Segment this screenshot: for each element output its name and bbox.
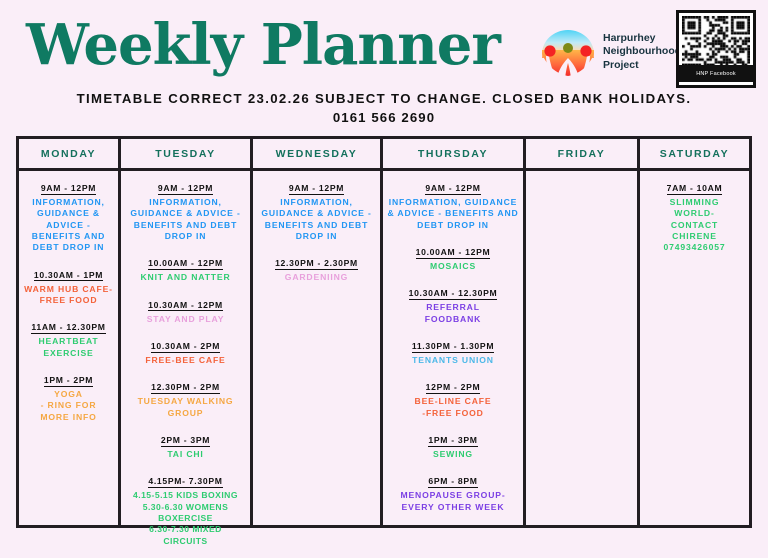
- org-line-2: Neighbourhood: [603, 45, 681, 58]
- event-name: KNIT AND NATTER: [122, 272, 249, 283]
- event-item[interactable]: 10.30AM - 12PMSTAY AND PLAY: [122, 295, 249, 325]
- event-name: MENOPAUSE GROUP- EVERY OTHER WEEK: [384, 490, 522, 513]
- day-column-wednesday: WEDNESDAY9AM - 12PMINFORMATION, GUIDANCE…: [253, 139, 383, 525]
- event-name: WARM HUB CAFE- FREE FOOD: [20, 284, 117, 307]
- event-name: HEARTBEAT EXERCISE: [20, 336, 117, 359]
- event-item[interactable]: 12.30PM - 2PMTUESDAY WALKING GROUP: [122, 377, 249, 419]
- event-item[interactable]: 10.30AM - 2PMFREE-BEE CAFE: [122, 336, 249, 366]
- event-time: 10.30AM - 2PM: [151, 341, 220, 353]
- event-time: 9AM - 12PM: [41, 183, 96, 195]
- event-item[interactable]: 10.00AM - 12PMMOSAICS: [384, 242, 522, 272]
- event-time: 11.30PM - 1.30PM: [412, 341, 494, 353]
- event-name: SLIMMING WORLD- CONTACT CHIRENE 07493426…: [641, 197, 748, 254]
- event-time: 9AM - 12PM: [289, 183, 344, 195]
- event-time: 10.30AM - 12.30PM: [409, 288, 498, 300]
- day-events-tuesday: 9AM - 12PMINFORMATION, GUIDANCE & ADVICE…: [121, 171, 250, 558]
- event-time: 6PM - 8PM: [428, 476, 477, 488]
- event-name: MOSAICS: [384, 261, 522, 272]
- day-column-thursday: THURSDAY9AM - 12PMINFORMATION, GUIDANCE …: [383, 139, 526, 525]
- event-time: 10.30AM - 12PM: [148, 300, 223, 312]
- day-column-friday: FRIDAY: [526, 139, 640, 525]
- event-name: BEE-LINE CAFE -FREE FOOD: [384, 396, 522, 419]
- org-line-1: Harpurhey: [603, 32, 681, 45]
- event-item[interactable]: 9AM - 12PMINFORMATION, GUIDANCE & ADVICE…: [122, 178, 249, 242]
- day-column-monday: MONDAY9AM - 12PMINFORMATION, GUIDANCE & …: [19, 139, 121, 525]
- day-events-thursday: 9AM - 12PMINFORMATION, GUIDANCE & ADVICE…: [383, 171, 523, 525]
- event-name: GARDENIING: [254, 272, 379, 283]
- page-header: Weekly Planner: [0, 0, 768, 135]
- weekly-planner-table: MONDAY9AM - 12PMINFORMATION, GUIDANCE & …: [16, 136, 752, 528]
- event-name: INFORMATION, GUIDANCE & ADVICE - BENEFIT…: [20, 197, 117, 254]
- event-name: INFORMATION, GUIDANCE & ADVICE - BENEFIT…: [254, 197, 379, 242]
- event-time: 12PM - 2PM: [426, 382, 481, 394]
- three-people-logo-icon: [538, 24, 598, 80]
- day-column-tuesday: TUESDAY9AM - 12PMINFORMATION, GUIDANCE &…: [121, 139, 253, 525]
- event-name: STAY AND PLAY: [122, 314, 249, 325]
- event-name: FREE-BEE CAFE: [122, 355, 249, 366]
- event-item[interactable]: 7AM - 10AMSLIMMING WORLD- CONTACT CHIREN…: [641, 178, 748, 254]
- event-name: TENANTS UNION: [384, 355, 522, 366]
- organisation-name: Harpurhey Neighbourhood Project: [603, 32, 681, 72]
- day-header-wednesday: WEDNESDAY: [253, 139, 380, 171]
- organisation-logo: Harpurhey Neighbourhood Project: [538, 24, 681, 80]
- event-time: 1PM - 3PM: [428, 435, 477, 447]
- event-name: REFERRAL FOODBANK: [384, 302, 522, 325]
- day-column-saturday: SATURDAY7AM - 10AMSLIMMING WORLD- CONTAC…: [640, 139, 749, 525]
- event-time: 1PM - 2PM: [44, 375, 93, 387]
- day-events-monday: 9AM - 12PMINFORMATION, GUIDANCE & ADVICE…: [19, 171, 118, 525]
- event-name: SEWING: [384, 449, 522, 460]
- event-item[interactable]: 2PM - 3PMTAI CHI: [122, 430, 249, 460]
- event-item[interactable]: 12PM - 2PMBEE-LINE CAFE -FREE FOOD: [384, 377, 522, 419]
- event-name: TUESDAY WALKING GROUP: [122, 396, 249, 419]
- timetable-notice: TIMETABLE CORRECT 23.02.26 SUBJECT TO CH…: [0, 89, 768, 127]
- org-line-3: Project: [603, 59, 681, 72]
- event-time: 10.30AM - 1PM: [34, 270, 103, 282]
- timetable-notice-phone: 0161 566 2690: [0, 108, 768, 127]
- event-time: 4.15PM- 7.30PM: [148, 476, 222, 488]
- page-title: Weekly Planner: [26, 12, 500, 78]
- event-time: 11AM - 12.30PM: [31, 322, 105, 334]
- day-events-friday: [526, 171, 637, 525]
- event-item[interactable]: 9AM - 12PMINFORMATION, GUIDANCE & ADVICE…: [254, 178, 379, 242]
- event-item[interactable]: 1PM - 2PMYOGA - RING FOR MORE INFO: [20, 370, 117, 423]
- event-item[interactable]: 6PM - 8PMMENOPAUSE GROUP- EVERY OTHER WE…: [384, 471, 522, 513]
- day-header-tuesday: TUESDAY: [121, 139, 250, 171]
- day-header-thursday: THURSDAY: [383, 139, 523, 171]
- day-header-friday: FRIDAY: [526, 139, 637, 171]
- event-item[interactable]: 11.30PM - 1.30PMTENANTS UNION: [384, 336, 522, 366]
- day-header-monday: MONDAY: [19, 139, 118, 171]
- event-time: 7AM - 10AM: [667, 183, 723, 195]
- event-time: 9AM - 12PM: [425, 183, 480, 195]
- day-events-saturday: 7AM - 10AMSLIMMING WORLD- CONTACT CHIREN…: [640, 171, 749, 525]
- day-events-wednesday: 9AM - 12PMINFORMATION, GUIDANCE & ADVICE…: [253, 171, 380, 525]
- event-item[interactable]: 11AM - 12.30PMHEARTBEAT EXERCISE: [20, 317, 117, 359]
- event-item[interactable]: 10.00AM - 12PMKNIT AND NATTER: [122, 253, 249, 283]
- event-item[interactable]: 10.30AM - 12.30PMREFERRAL FOODBANK: [384, 283, 522, 325]
- event-time: 12.30PM - 2.30PM: [275, 258, 358, 270]
- event-item[interactable]: 9AM - 12PMINFORMATION, GUIDANCE & ADVICE…: [384, 178, 522, 231]
- event-name: YOGA - RING FOR MORE INFO: [20, 389, 117, 423]
- event-item[interactable]: 1PM - 3PMSEWING: [384, 430, 522, 460]
- event-item[interactable]: 10.30AM - 1PMWARM HUB CAFE- FREE FOOD: [20, 265, 117, 307]
- event-item[interactable]: 4.15PM- 7.30PM4.15-5.15 KIDS BOXING 5.30…: [122, 471, 249, 547]
- event-item[interactable]: 12.30PM - 2.30PMGARDENIING: [254, 253, 379, 283]
- event-time: 10.00AM - 12PM: [148, 258, 223, 270]
- event-time: 2PM - 3PM: [161, 435, 210, 447]
- event-time: 12.30PM - 2PM: [151, 382, 220, 394]
- event-name: TAI CHI: [122, 449, 249, 460]
- event-time: 9AM - 12PM: [158, 183, 213, 195]
- qr-caption-label: HNP Facebook: [676, 65, 756, 82]
- event-name: INFORMATION, GUIDANCE & ADVICE - BENEFIT…: [384, 197, 522, 231]
- event-item[interactable]: 9AM - 12PMINFORMATION, GUIDANCE & ADVICE…: [20, 178, 117, 254]
- event-name: 4.15-5.15 KIDS BOXING 5.30-6.30 WOMENS B…: [122, 490, 249, 547]
- event-name: INFORMATION, GUIDANCE & ADVICE - BENEFIT…: [122, 197, 249, 242]
- event-time: 10.00AM - 12PM: [416, 247, 491, 259]
- timetable-notice-line1: TIMETABLE CORRECT 23.02.26 SUBJECT TO CH…: [77, 91, 692, 106]
- day-header-saturday: SATURDAY: [640, 139, 749, 171]
